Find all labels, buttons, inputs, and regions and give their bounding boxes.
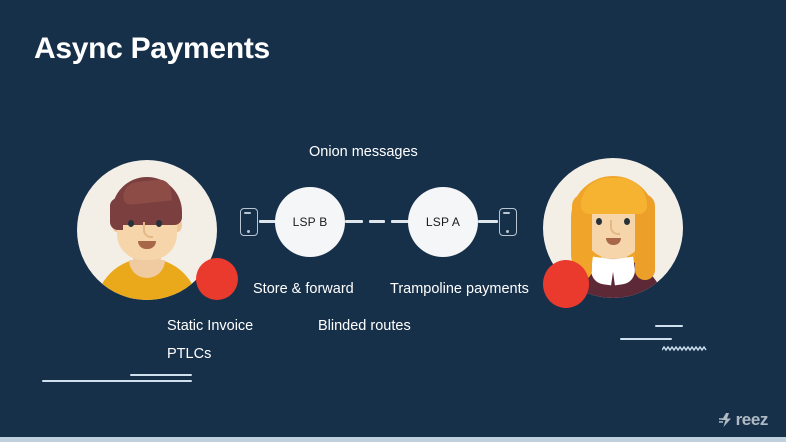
- label-onion-messages: Onion messages: [309, 144, 418, 160]
- female-eye-left: [596, 218, 602, 225]
- phone-speaker-right: [503, 212, 510, 214]
- node-lsp-b: LSP B: [275, 187, 345, 257]
- annotation-underline-1: [655, 325, 683, 327]
- mobile-phone-icon-left: [240, 208, 258, 236]
- female-eye-right: [624, 218, 630, 225]
- link-dash-1: [345, 220, 363, 223]
- male-eye-left: [128, 220, 134, 227]
- male-eyebrow-left: [125, 213, 137, 216]
- phone-speaker-left: [244, 212, 251, 214]
- phone-home-button-left: [247, 230, 250, 233]
- link-segment-lspa-to-phone: [478, 220, 498, 223]
- female-nose: [610, 220, 620, 235]
- male-eyebrow-right: [153, 213, 165, 216]
- breez-logo: reez: [719, 410, 768, 430]
- label-static-invoice: Static Invoice: [167, 318, 253, 334]
- breez-logo-text: reez: [736, 410, 768, 430]
- link-dash-3: [391, 220, 409, 223]
- node-lsp-b-label: LSP B: [293, 215, 328, 229]
- male-nose: [143, 222, 153, 238]
- mobile-phone-icon-right: [499, 208, 517, 236]
- slide-canvas: Async Payments: [0, 0, 786, 442]
- label-ptlcs: PTLCs: [167, 346, 211, 362]
- bottom-progress-bar[interactable]: [0, 437, 786, 442]
- link-segment-phone-to-lspb: [259, 220, 276, 223]
- label-store-and-forward: Store & forward: [253, 281, 354, 297]
- label-trampoline-payments: Trampoline payments: [390, 281, 529, 297]
- male-eye-right: [156, 220, 162, 227]
- breez-mark-icon: [719, 412, 735, 429]
- annotation-squiggle-icon: [662, 345, 708, 352]
- phone-home-button-right: [506, 230, 509, 233]
- node-lsp-a-label: LSP A: [426, 215, 460, 229]
- male-hair-sideburn: [110, 198, 123, 230]
- red-status-dot-right: [543, 260, 589, 308]
- avatar-art-left: [77, 160, 217, 310]
- node-lsp-a: LSP A: [408, 187, 478, 257]
- link-dash-2: [369, 220, 385, 223]
- label-blinded-routes: Blinded routes: [318, 318, 411, 334]
- page-title: Async Payments: [34, 32, 270, 66]
- annotation-underline-2: [620, 338, 672, 340]
- annotation-underline-4: [130, 374, 192, 376]
- male-user-avatar: [77, 160, 217, 310]
- red-status-dot-left: [196, 258, 238, 300]
- annotation-underline-3: [42, 380, 192, 382]
